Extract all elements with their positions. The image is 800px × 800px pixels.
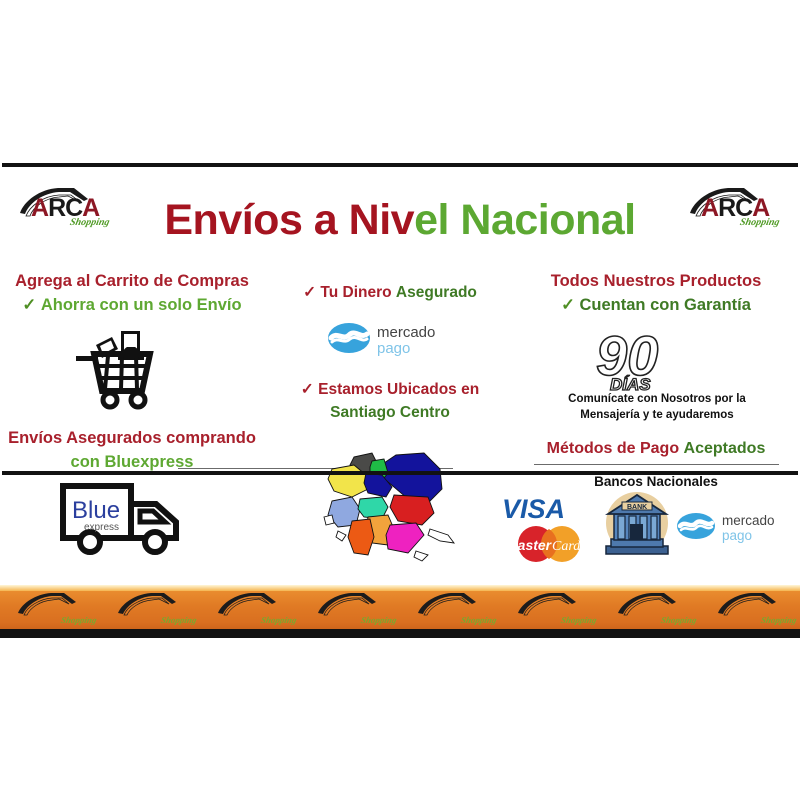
mastercard-word-master: Master: [506, 537, 553, 553]
card-logos: VISA Master Card: [500, 492, 600, 564]
payments-heading-green: Aceptados: [684, 440, 766, 457]
right-divider-line: [534, 464, 779, 465]
chile-region-map: [312, 443, 472, 571]
page-title: Envíos a Nivel Nacional: [0, 196, 800, 245]
mercadopago-word-bottom: pago: [377, 340, 410, 357]
cart-feature-block: Agrega al Carrito de Compras ✓ Ahorra co…: [12, 270, 252, 318]
banks-label: Bancos Nacionales: [530, 474, 782, 489]
mercadopago-logo-center: mercado pago: [327, 318, 445, 362]
warranty-subheading: Cuentan con Garantía: [579, 296, 750, 314]
arca-logo-strip: ARCAShopping: [314, 589, 402, 629]
cart-subheading-row: ✓ Ahorra con un solo Envío: [12, 294, 252, 318]
arca-logo-strip: ARCAShopping: [514, 589, 602, 629]
truck-brand-express: express: [84, 522, 119, 533]
location-heading: Estamos Ubicados en: [318, 381, 479, 398]
footer-logo-strip: ARCAShoppingARCAShoppingARCAShoppingARCA…: [0, 585, 800, 633]
cart-heading: Agrega al Carrito de Compras: [12, 270, 252, 294]
warranty-note-line2: Mensajería y te ayudaremos: [548, 408, 766, 424]
bank-label: BANK: [627, 504, 647, 511]
shopping-cart-icon: [74, 327, 166, 407]
check-icon: ✓: [22, 296, 36, 314]
shipping-heading: Envíos Asegurados comprando: [8, 427, 256, 451]
warranty-90-days-badge: 90 DÍAS: [592, 327, 696, 393]
mercadopago-word-bottom: pago: [722, 528, 752, 543]
bank-building-icon: BANK: [600, 488, 674, 558]
arca-tagline: Shopping: [60, 615, 98, 625]
warranty-note-line1: Comunícate con Nosotros por la: [548, 392, 766, 408]
page-title-green-part: el Nacional: [414, 196, 636, 244]
banner-top-rule: [2, 163, 798, 167]
mercadopago-logo-payments: mercado pago: [676, 508, 788, 548]
warranty-heading: Todos Nuestros Productos: [532, 270, 780, 294]
mercadopago-word-top: mercado: [722, 513, 775, 528]
truck-brand-blue: Blue: [72, 497, 120, 524]
check-icon: ✓: [301, 381, 314, 398]
arca-logo-strip: ARCAShopping: [114, 589, 202, 629]
arca-tagline: Shopping: [760, 615, 798, 625]
cart-subheading: Ahorra con un solo Envío: [41, 296, 242, 314]
warranty-note: Comunícate con Nosotros por la Mensajerí…: [548, 392, 766, 423]
arca-logo-strip: ARCAShopping: [414, 589, 502, 629]
page-title-red-part: Envíos a Niv: [164, 196, 414, 244]
location-feature-block: ✓ Estamos Ubicados en Santiago Centro: [280, 378, 500, 425]
warranty-subheading-row: ✓ Cuentan con Garantía: [532, 294, 780, 318]
arca-logo-strip: ARCAShopping: [714, 589, 800, 629]
promo-banner-page: ARCA Shopping ARCA Shopping Envíos a Niv…: [0, 0, 800, 800]
arca-tagline: Shopping: [560, 615, 598, 625]
check-icon: ✓: [561, 296, 575, 314]
banner-bottom-rule: [2, 471, 798, 475]
warranty-feature-block: Todos Nuestros Productos ✓ Cuentan con G…: [532, 270, 780, 318]
check-icon: ✓: [303, 284, 316, 301]
money-heading-red: Tu Dinero: [320, 284, 391, 301]
arca-tagline: Shopping: [360, 615, 398, 625]
mastercard-word-card: Card: [552, 539, 581, 554]
payment-methods-block: Métodos de Pago Aceptados: [530, 440, 782, 458]
arca-logo-strip: ARCAShopping: [214, 589, 302, 629]
mercadopago-word-top: mercado: [377, 324, 435, 341]
money-heading-green: Asegurado: [396, 284, 477, 301]
location-heading-row: ✓ Estamos Ubicados en: [280, 378, 500, 401]
arca-logo-strip: ARCAShopping: [14, 589, 102, 629]
arca-tagline: Shopping: [460, 615, 498, 625]
strip-bottom-bar: [0, 629, 800, 638]
arca-tagline: Shopping: [260, 615, 298, 625]
arca-tagline: Shopping: [660, 615, 698, 625]
arca-logo-strip: ARCAShopping: [614, 589, 702, 629]
visa-logo: VISA: [502, 494, 565, 524]
money-feature-block: ✓ Tu Dinero Asegurado: [280, 283, 500, 302]
delivery-truck-icon: Blue express: [60, 478, 190, 558]
arca-tagline: Shopping: [160, 615, 198, 625]
location-subheading: Santiago Centro: [280, 401, 500, 424]
payments-heading-red: Métodos de Pago: [547, 440, 679, 457]
